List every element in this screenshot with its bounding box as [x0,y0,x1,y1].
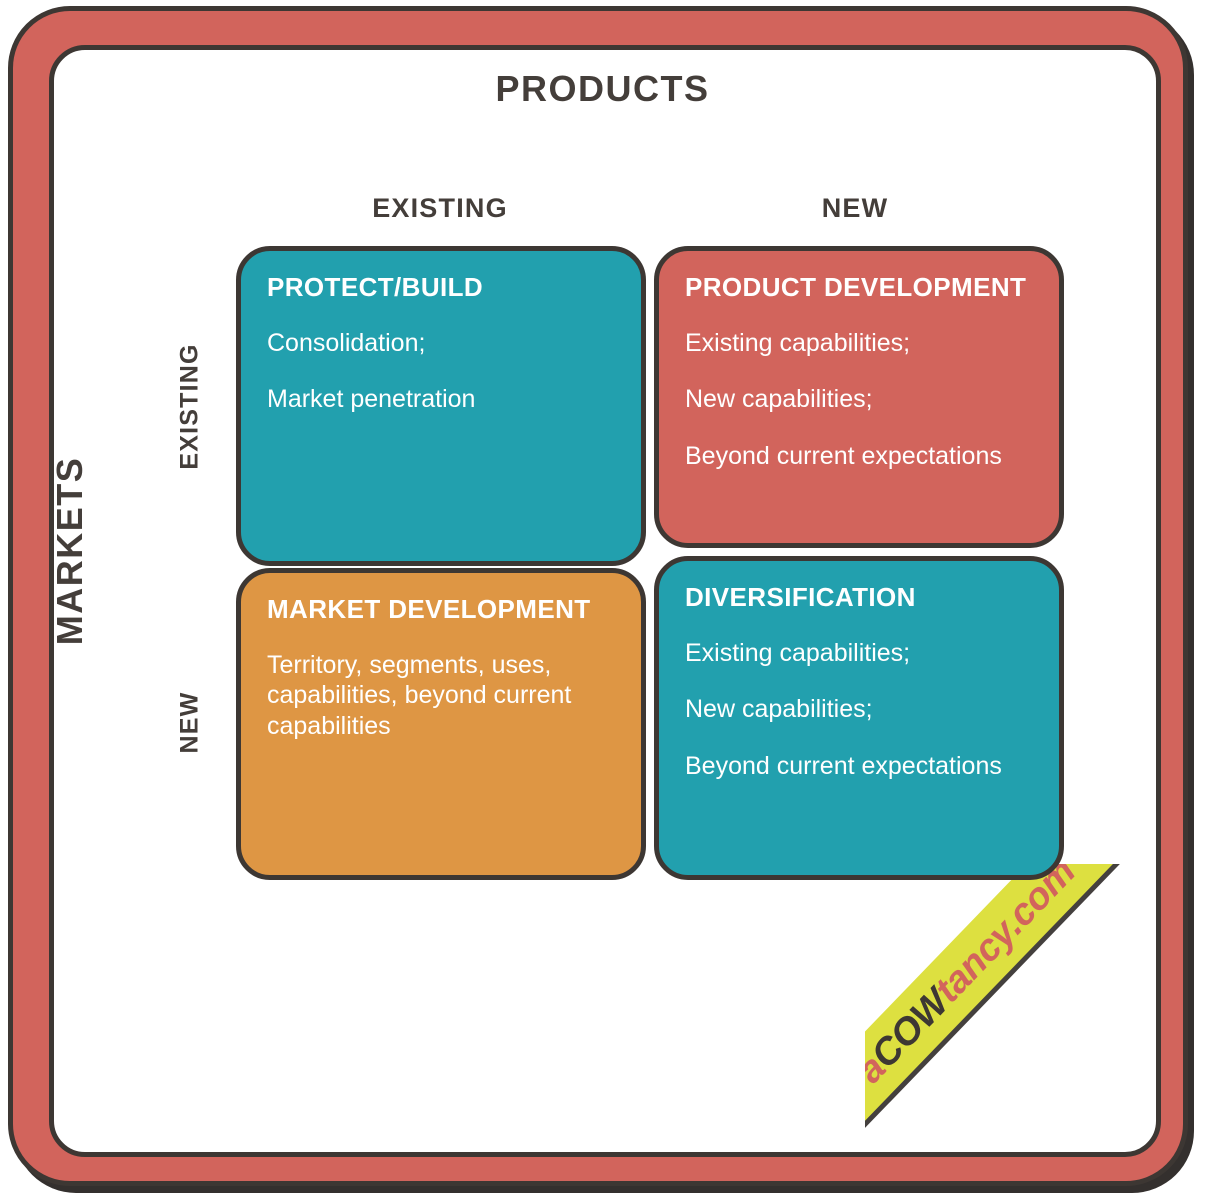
column-header-new: NEW [705,193,1005,224]
quadrant-market-development[interactable]: MARKET DEVELOPMENT Territory, segments, … [236,568,646,880]
quadrant-line: New capabilities; [685,694,1033,725]
quadrant-product-development[interactable]: PRODUCT DEVELOPMENT Existing capabilitie… [654,246,1064,548]
quadrant-line: Market penetration [267,384,615,415]
quadrant-line: New capabilities; [685,384,1033,415]
row-header-new: NEW [176,643,205,803]
row-header-existing: EXISTING [176,297,205,517]
quadrant-lines: Existing capabilities; New capabilities;… [685,638,1033,782]
quadrant-line: Existing capabilities; [685,328,1033,359]
column-header-existing: EXISTING [290,193,590,224]
quadrant-title: DIVERSIFICATION [685,583,1033,612]
quadrant-protect-build[interactable]: PROTECT/BUILD Consolidation; Market pene… [236,246,646,566]
markets-axis-title: MARKETS [49,421,91,681]
quadrant-title: PRODUCT DEVELOPMENT [685,273,1033,302]
quadrant-lines: Consolidation; Market penetration [267,328,615,415]
quadrant-diversification[interactable]: DIVERSIFICATION Existing capabilities; N… [654,556,1064,880]
quadrant-title: MARKET DEVELOPMENT [267,595,615,624]
products-axis-title: PRODUCTS [0,68,1205,110]
quadrant-line: Beyond current expectations [685,441,1033,472]
ansoff-matrix-diagram: PRODUCTS MARKETS EXISTING NEW EXISTING N… [0,0,1205,1204]
quadrant-lines: Existing capabilities; New capabilities;… [685,328,1033,472]
quadrant-line: Territory, segments, uses, capabilities,… [267,650,615,742]
quadrant-title: PROTECT/BUILD [267,273,615,302]
quadrant-lines: Territory, segments, uses, capabilities,… [267,650,615,742]
quadrant-line: Existing capabilities; [685,638,1033,669]
quadrant-line: Consolidation; [267,328,615,359]
matrix-grid: PROTECT/BUILD Consolidation; Market pene… [236,246,1064,880]
quadrant-line: Beyond current expectations [685,751,1033,782]
